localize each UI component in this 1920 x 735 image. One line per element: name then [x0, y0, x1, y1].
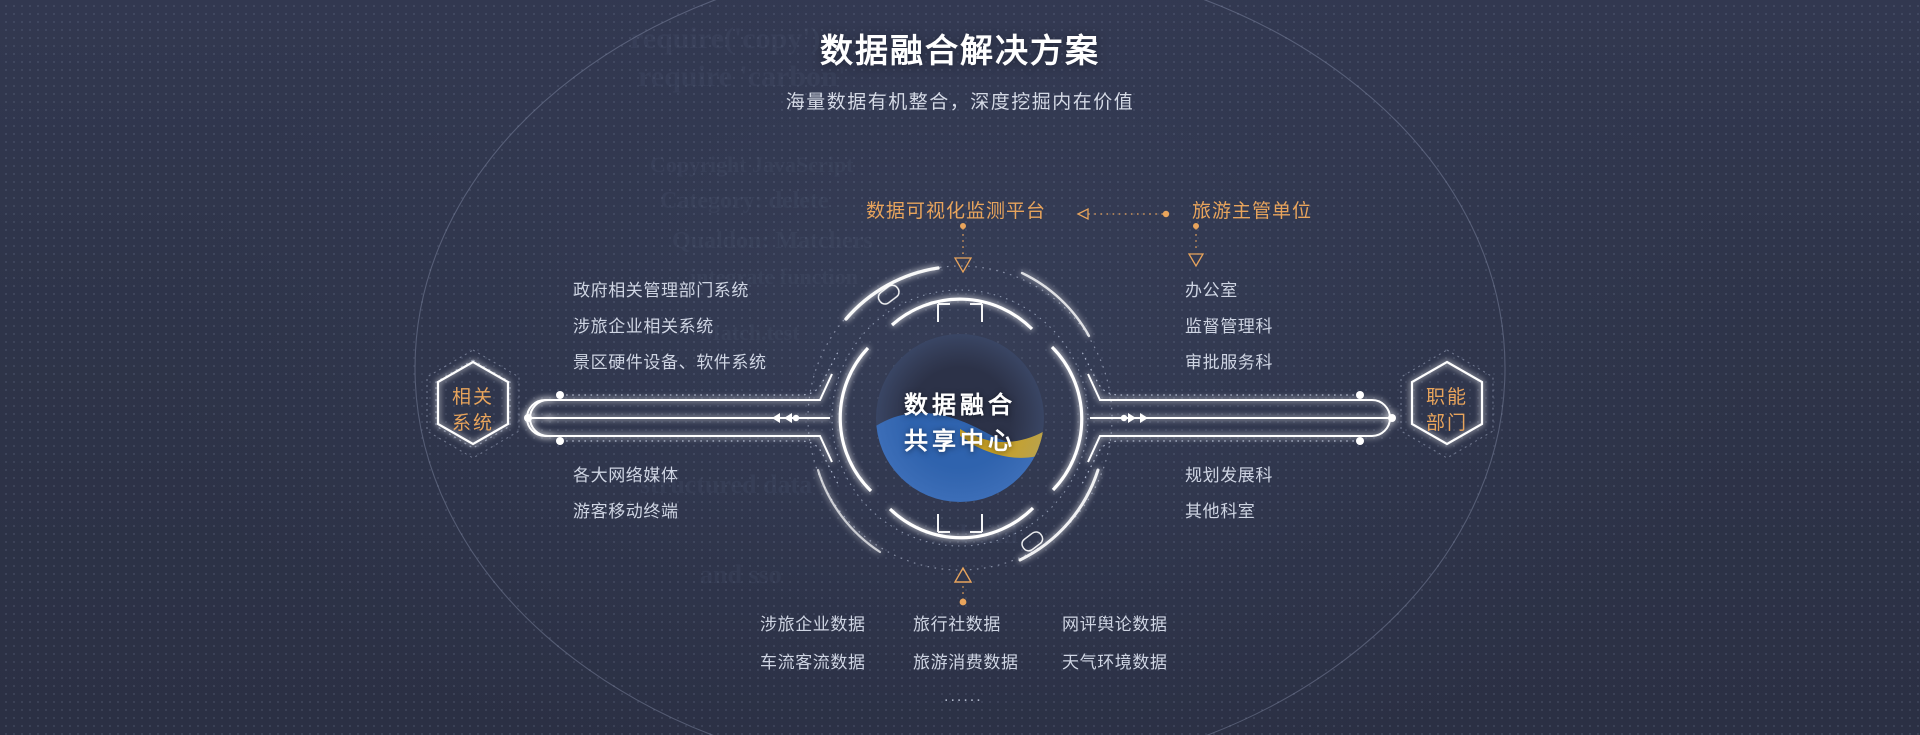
right-badge-label: 职能 部门	[1377, 385, 1517, 436]
right-badge-line1: 职能	[1377, 385, 1517, 411]
left-upper-item[interactable]: 景区硬件设备、软件系统	[573, 354, 767, 371]
right-upper-item[interactable]: 监督管理科	[1185, 318, 1273, 335]
infographic-canvas: require('copy') require 'carbon' Copyrig…	[0, 0, 1920, 735]
left-lower-item[interactable]: 各大网络媒体	[573, 467, 679, 484]
page-subtitle: 海量数据有机整合，深度挖掘内在价值	[0, 87, 1920, 114]
bottom-item[interactable]: 网评舆论数据	[1062, 616, 1168, 633]
flow-arrow-left	[772, 413, 799, 423]
bottom-item[interactable]: 车流客流数据	[760, 654, 866, 671]
left-upper-item[interactable]: 涉旅企业相关系统	[573, 318, 714, 335]
left-badge-line2: 系统	[403, 411, 543, 437]
right-badge-line2: 部门	[1377, 411, 1517, 437]
bottom-item[interactable]: 涉旅企业数据	[760, 616, 866, 633]
center-hub-line1: 数据融合	[860, 388, 1060, 424]
center-hub-label: 数据融合 共享中心	[860, 388, 1060, 460]
left-badge-label: 相关 系统	[403, 385, 543, 436]
right-lower-item[interactable]: 其他科室	[1185, 503, 1255, 520]
bottom-connector	[955, 568, 971, 605]
right-lower-item[interactable]: 规划发展科	[1185, 467, 1273, 484]
bottom-item[interactable]: 旅游消费数据	[913, 654, 1019, 671]
bottom-ellipsis: ......	[944, 688, 983, 706]
top-right-node-label[interactable]: 旅游主管单位	[1192, 202, 1312, 221]
page-title: 数据融合解决方案	[0, 30, 1920, 71]
bottom-item[interactable]: 旅行社数据	[913, 616, 1001, 633]
right-upper-item[interactable]: 办公室	[1185, 282, 1238, 299]
left-lower-item[interactable]: 游客移动终端	[573, 503, 679, 520]
ring-node-marker	[1020, 530, 1045, 554]
center-hub-line2: 共享中心	[860, 424, 1060, 460]
ring-node-marker	[876, 283, 901, 307]
right-upper-item[interactable]: 审批服务科	[1185, 354, 1273, 371]
left-badge-line1: 相关	[403, 385, 543, 411]
bottom-item[interactable]: 天气环境数据	[1062, 654, 1168, 671]
header: 数据融合解决方案 海量数据有机整合，深度挖掘内在价值	[0, 30, 1920, 114]
flow-arrow-right	[1121, 413, 1148, 423]
top-left-node-label[interactable]: 数据可视化监测平台	[866, 202, 1046, 221]
left-upper-item[interactable]: 政府相关管理部门系统	[573, 282, 749, 299]
